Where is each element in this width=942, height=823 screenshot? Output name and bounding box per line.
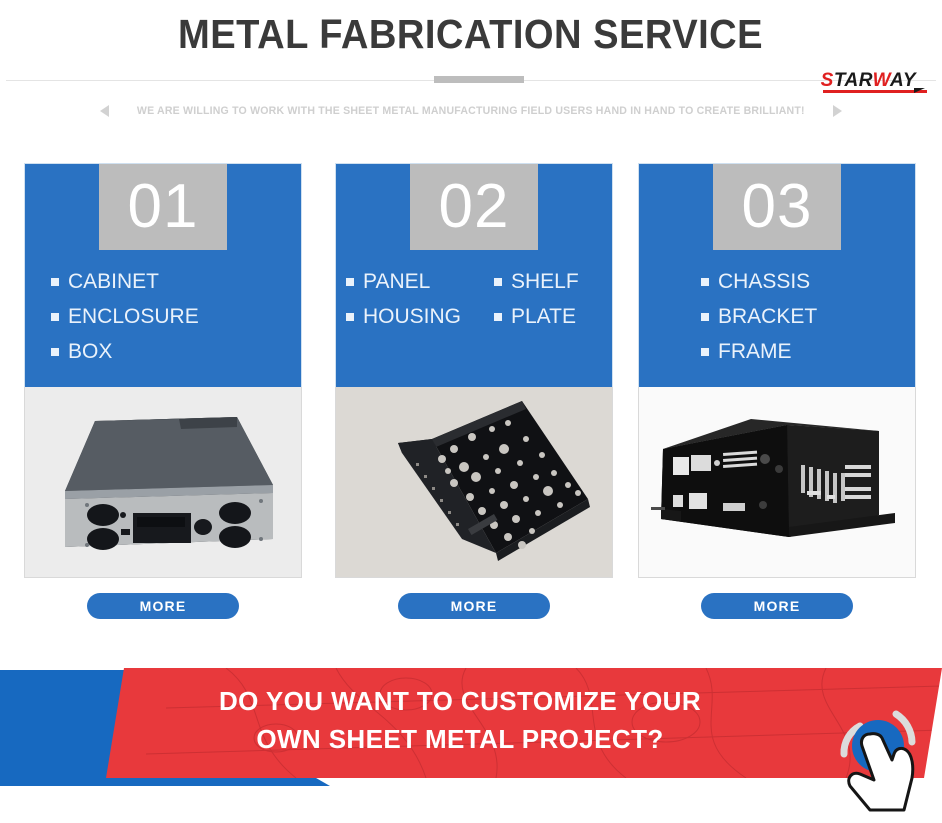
card-more-wrap-02: MORE — [335, 593, 613, 619]
card-more-wrap-01: MORE — [24, 593, 302, 619]
feature-item: ENCLOSURE — [51, 299, 199, 334]
card-image-02 — [335, 387, 613, 578]
logo-underline-stroke — [823, 90, 927, 93]
starway-logo: STARWAY — [821, 66, 916, 90]
service-card-01: 01 CABINET ENCLOSURE BOX — [24, 163, 302, 578]
feature-item: PANEL — [346, 264, 494, 299]
tagline-bar: WE ARE WILLING TO WORK WITH THE SHEET ME… — [0, 100, 942, 122]
bullet-icon — [346, 278, 354, 286]
feature-label: BRACKET — [718, 306, 817, 327]
feature-item: CHASSIS — [701, 264, 817, 299]
card-feature-list-03: CHASSIS BRACKET FRAME — [639, 264, 915, 369]
feature-item: SHELF — [494, 264, 579, 299]
card-number-01: 01 — [128, 176, 199, 238]
card-header-03: 03 CHASSIS BRACKET FRAME — [638, 163, 916, 387]
feature-label: BOX — [68, 341, 112, 362]
service-card-02: 02 PANEL HOUSING SHELF PLATE — [335, 163, 613, 578]
card-number-badge-01: 01 — [99, 164, 227, 250]
feature-item: HOUSING — [346, 299, 494, 334]
feature-item: BRACKET — [701, 299, 817, 334]
page-header: METAL FABRICATION SERVICE — [0, 6, 942, 62]
bullet-icon — [494, 313, 502, 321]
bullet-icon — [51, 348, 59, 356]
bullet-icon — [51, 313, 59, 321]
service-card-grid: 01 CABINET ENCLOSURE BOX — [24, 163, 922, 623]
bullet-icon — [701, 348, 709, 356]
more-button-02[interactable]: MORE — [398, 593, 550, 619]
click-hand-icon[interactable] — [826, 694, 934, 818]
card-number-badge-03: 03 — [713, 164, 841, 250]
feature-label: HOUSING — [363, 306, 461, 327]
feature-column-right: SHELF PLATE — [494, 264, 579, 334]
starway-logo-text: STARWAY — [821, 71, 916, 90]
bullet-icon — [51, 278, 59, 286]
card-image-03 — [638, 387, 916, 578]
feature-label: CHASSIS — [718, 271, 810, 292]
card-feature-list-02: PANEL HOUSING SHELF PLATE — [336, 264, 612, 334]
card-more-wrap-03: MORE — [638, 593, 916, 619]
logo-letters-ay: AY — [890, 70, 916, 91]
logo-letter-s: S — [821, 70, 834, 91]
feature-label: ENCLOSURE — [68, 306, 199, 327]
bullet-icon — [701, 313, 709, 321]
more-button-01[interactable]: MORE — [87, 593, 239, 619]
service-card-03: 03 CHASSIS BRACKET FRAME — [638, 163, 916, 578]
feature-column-left: PANEL HOUSING — [346, 264, 494, 334]
feature-label: SHELF — [511, 271, 579, 292]
feature-label: CABINET — [68, 271, 159, 292]
feature-item: CABINET — [51, 264, 199, 299]
more-button-03[interactable]: MORE — [701, 593, 853, 619]
card-header-02: 02 PANEL HOUSING SHELF PLATE — [335, 163, 613, 387]
logo-tick-icon — [914, 88, 925, 93]
feature-label: PLATE — [511, 306, 576, 327]
feature-item: FRAME — [701, 334, 817, 369]
bullet-icon — [346, 313, 354, 321]
feature-label: FRAME — [718, 341, 792, 362]
banner-blueprint-texture — [106, 668, 942, 778]
bullet-icon — [494, 278, 502, 286]
bullet-icon — [701, 278, 709, 286]
page-title: METAL FABRICATION SERVICE — [178, 11, 763, 58]
tagline-text: WE ARE WILLING TO WORK WITH THE SHEET ME… — [137, 105, 805, 117]
logo-letter-w: W — [873, 70, 890, 91]
card-number-02: 02 — [439, 176, 510, 238]
perforated-sheet-metal-panel-photo — [336, 387, 612, 576]
feature-label: PANEL — [363, 271, 430, 292]
feature-item: BOX — [51, 334, 199, 369]
next-arrow-icon[interactable] — [833, 105, 842, 117]
black-metal-chassis-photo — [639, 387, 915, 576]
banner-red-ribbon — [106, 668, 942, 778]
feature-item: PLATE — [494, 299, 579, 334]
card-feature-list-01: CABINET ENCLOSURE BOX — [25, 264, 301, 369]
card-header-01: 01 CABINET ENCLOSURE BOX — [24, 163, 302, 387]
prev-arrow-icon[interactable] — [100, 105, 109, 117]
metal-enclosure-photo — [25, 387, 301, 576]
card-number-badge-02: 02 — [410, 164, 538, 250]
cta-banner[interactable]: DO YOU WANT TO CUSTOMIZE YOUR OWN SHEET … — [0, 668, 942, 798]
card-image-01 — [24, 387, 302, 578]
logo-letters-tar: TAR — [834, 70, 873, 91]
card-number-03: 03 — [742, 176, 813, 238]
divider-center-tab — [434, 76, 524, 83]
metal-fabrication-service-page: METAL FABRICATION SERVICE STARWAY WE ARE… — [0, 0, 942, 823]
